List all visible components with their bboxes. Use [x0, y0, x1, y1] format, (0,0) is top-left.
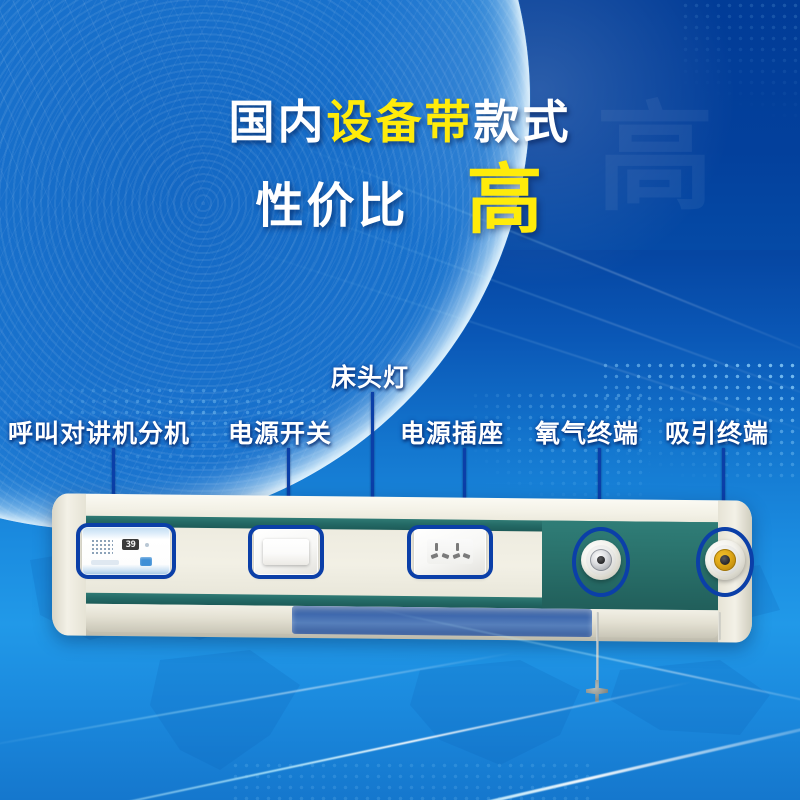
nurse-call-intercom-device[interactable]: 39 — [76, 523, 176, 579]
highlight-outline-oxygen-terminal — [572, 527, 630, 597]
promo-banner: 高 国内设备带款式 性价比 高 呼叫对讲机分机 电源开关 床头灯 电源插座 氧气… — [0, 0, 800, 800]
halftone-dots — [230, 760, 590, 800]
headline-part-1: 国内 — [229, 96, 327, 148]
subheadline-left: 性价比 — [255, 166, 408, 236]
headline-highlight: 设备带 — [327, 96, 474, 148]
callout-label-bed-lamp: 床头灯 — [331, 358, 409, 394]
pull-cord-secondary[interactable] — [718, 612, 721, 640]
callout-label-nurse-call-intercom: 呼叫对讲机分机 — [8, 414, 190, 450]
callout-label-power-socket: 电源插座 — [400, 414, 504, 450]
oxygen-terminal-device[interactable] — [572, 527, 630, 597]
callout-label-suction-terminal: 吸引终端 — [665, 414, 769, 450]
panel-teal-section — [542, 520, 718, 610]
highlight-outline-suction-terminal — [696, 527, 754, 597]
headline-part-3: 款式 — [474, 96, 572, 148]
highlight-outline-power-socket — [407, 525, 493, 579]
subheadline: 性价比 高 — [0, 165, 800, 237]
power-socket-device[interactable] — [407, 525, 493, 579]
medical-bedhead-panel: 39 — [52, 497, 752, 639]
highlight-outline-power-switch — [248, 525, 324, 579]
subheadline-right: 高 — [467, 165, 545, 237]
suction-terminal-device[interactable] — [696, 527, 754, 597]
power-switch-device[interactable] — [248, 525, 324, 579]
callout-label-power-switch: 电源开关 — [228, 414, 332, 450]
pull-cord[interactable] — [596, 612, 599, 688]
headline: 国内设备带款式 — [0, 86, 800, 152]
highlight-outline-intercom — [76, 523, 176, 579]
callout-label-oxygen-terminal: 氧气终端 — [535, 414, 639, 450]
